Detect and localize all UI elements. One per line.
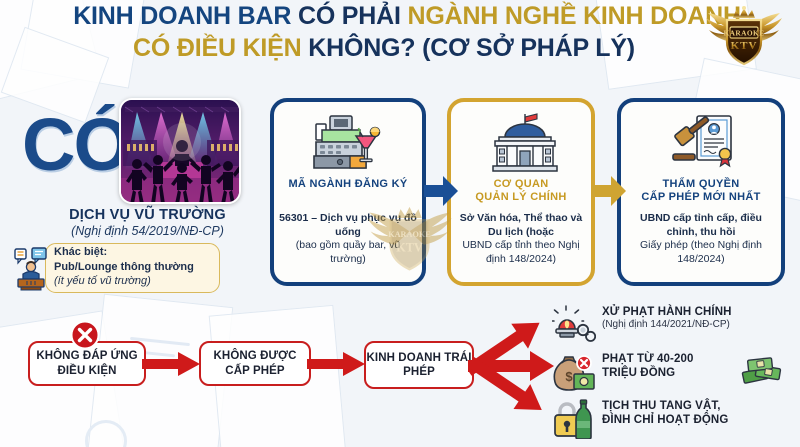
difference-label: Khác biệt: [54,245,216,260]
difference-line-2: (ít yếu tố vũ trường) [54,274,216,289]
speaker-presentation-icon [14,247,48,291]
red-right-arrow [307,352,365,381]
consequence-3-title-line-2: ĐÌNH CHỈ HOẠT ĐỘNG [602,413,800,427]
svg-text:$: $ [565,369,573,384]
header: KINH DOANH BAR CÓ PHẢI NGÀNH NGHỀ KINH D… [0,4,800,86]
flow-box-2-heading-line-2: QUẢN LÝ CHÍNH [455,191,587,204]
siren-handcuffs-icon [552,305,596,345]
flow-box-1-heading: MÃ NGÀNH ĐĂNG KÝ [278,178,418,191]
flow-box-3-body-normal: Giấy phép (theo Nghị định 148/2024) [625,239,777,266]
cash-stack-icon [740,354,784,388]
bottom-step-3[interactable]: KINH DOANH TRÁI PHÉP [364,341,474,389]
bottom-step-2-label: KHÔNG ĐƯỢC CẤP PHÉP [201,349,309,378]
flow-box-3-body: UBND cấp tỉnh cấp, điều chỉnh, thu hồi G… [625,212,777,267]
page-title-line-2: CÓ ĐIỀU KIỆN KHÔNG? (CƠ SỞ PHÁP LÝ) [0,36,800,62]
padlock-bottle-icon [552,399,596,439]
karaoke-ktv-crest-watermark: KARAOKE KTV [352,198,467,276]
flow-box-2-heading: CƠ QUAN QUẢN LÝ CHÍNH [455,178,587,205]
gavel-certificate-icon [621,112,781,174]
flow-box-2-body-bold: Sở Văn hóa, Thể thao và Du lịch (hoặc [455,212,587,239]
flow-box-2-body: Sở Văn hóa, Thể thao và Du lịch (hoặc UB… [455,212,587,267]
flow-box-3-heading: THẨM QUYỀN CẤP PHÉP MỚI NHẤT [625,178,777,205]
difference-callout-text: Khác biệt: Pub/Lounge thông thường (ít y… [54,245,216,289]
flow-box-3-body-bold: UBND cấp tỉnh cấp, điều chỉnh, thu hồi [625,212,777,239]
logo-bottom-text: KTV [731,40,758,52]
bottom-step-2[interactable]: KHÔNG ĐƯỢC CẤP PHÉP [199,341,311,386]
karaoke-ktv-crest-logo: KARAOKE KTV [694,0,794,70]
red-x-circle-icon [70,320,100,350]
bottom-step-3-label: KINH DOANH TRÁI PHÉP [366,351,472,380]
consequence-3-text: TỊCH THU TANG VẬT, ĐÌNH CHỈ HOẠT ĐỘNG [602,399,800,428]
title-segment-gold-2: CÓ ĐIỀU KIỆN [133,34,301,62]
consequence-1-text: XỬ PHẠT HÀNH CHÍNH (Nghị định 144/2021/N… [602,305,800,331]
logo-top-text: KARAOKE [724,29,765,38]
flow-box-licensing-authority[interactable]: THẨM QUYỀN CẤP PHÉP MỚI NHẤT UBND cấp tỉ… [617,98,785,286]
difference-line-1: Pub/Lounge thông thường [54,260,216,275]
nightclub-dancefloor-image [119,98,241,204]
flow-box-3-heading-line-2: CẤP PHÉP MỚI NHẤT [625,191,777,204]
svg-text:KTV: KTV [396,240,423,254]
gold-right-arrow [592,176,626,211]
svg-text:KARAOKE: KARAOKE [388,230,431,239]
cash-register-cocktail-icon [274,112,422,174]
bottom-step-1-label: KHÔNG ĐÁP ỨNG ĐIỀU KIỆN [30,349,144,378]
page-title-line-1: KINH DOANH BAR CÓ PHẢI NGÀNH NGHỀ KINH D… [0,4,800,30]
flow-box-2-heading-line-1: CƠ QUAN [455,178,587,191]
money-bag-blocked-icon: $ [552,352,596,392]
consequence-1-note: (Nghị định 144/2021/NĐ-CP) [602,319,800,331]
consequence-3-title-line-1: TỊCH THU TANG VẬT, [602,399,800,413]
title-segment-navy-2: KHÔNG? (CƠ SỞ PHÁP LÝ) [302,34,635,62]
title-segment-navy: CÓ PHẢI [291,2,407,30]
government-building-icon [451,112,591,174]
title-segment-blue: KINH DOANH BAR [73,2,291,30]
service-legal-reference: (Nghị định 54/2019/NĐ-CP) [35,224,260,238]
flow-box-managing-authority[interactable]: CƠ QUAN QUẢN LÝ CHÍNH Sở Văn hóa, Thể th… [447,98,595,286]
flow-box-3-heading-line-1: THẨM QUYỀN [625,178,777,191]
flow-box-2-body-normal: UBND cấp tỉnh theo Nghị định 148/2024) [455,239,587,266]
title-segment-gold: NGÀNH NGHỀ KINH DOANH [408,2,741,30]
service-title: DỊCH VỤ VŨ TRƯỜNG [40,207,255,223]
consequence-1-title: XỬ PHẠT HÀNH CHÍNH [602,305,800,319]
red-right-arrow [142,352,200,381]
answer-word-co: CÓ [22,108,129,182]
